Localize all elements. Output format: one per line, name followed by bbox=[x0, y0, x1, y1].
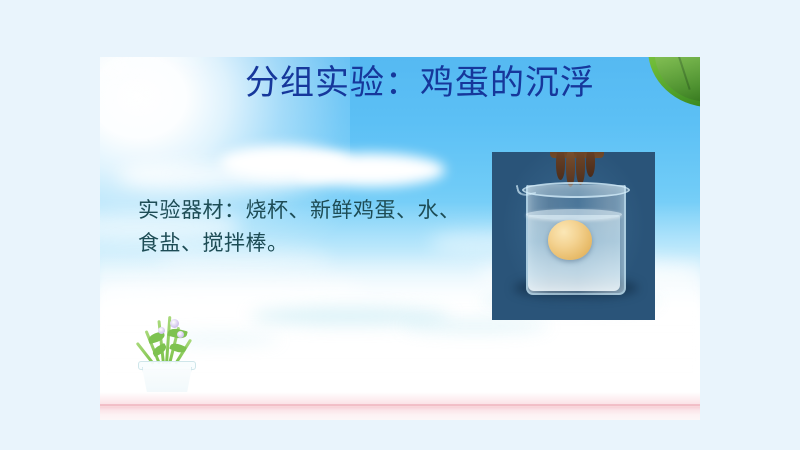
plant-flower bbox=[177, 331, 184, 338]
finger bbox=[586, 152, 595, 177]
plant-flower bbox=[170, 319, 179, 328]
potted-plant-icon bbox=[128, 312, 204, 400]
egg bbox=[548, 220, 592, 260]
slide-title: 分组实验：鸡蛋的沉浮 bbox=[160, 61, 680, 107]
finger bbox=[556, 152, 565, 180]
beaker-rim bbox=[522, 182, 630, 198]
plant-flower bbox=[158, 327, 165, 334]
shelf-line bbox=[100, 404, 700, 406]
slide-body-text: 实验器材：烧杯、新鲜鸡蛋、水、食盐、搅拌棒。 bbox=[138, 194, 468, 260]
finger bbox=[576, 152, 585, 185]
presentation-slide: 分组实验：鸡蛋的沉浮 实验器材：烧杯、新鲜鸡蛋、水、食盐、搅拌棒。 bbox=[100, 57, 700, 420]
sun-ray bbox=[100, 57, 162, 115]
experiment-photo bbox=[492, 152, 655, 320]
water-surface bbox=[526, 209, 622, 220]
cloud bbox=[295, 153, 445, 187]
screenshot-stage: 分组实验：鸡蛋的沉浮 实验器材：烧杯、新鲜鸡蛋、水、食盐、搅拌棒。 bbox=[0, 0, 800, 450]
pink-shelf bbox=[100, 392, 700, 420]
cloud-wisp bbox=[400, 319, 550, 333]
